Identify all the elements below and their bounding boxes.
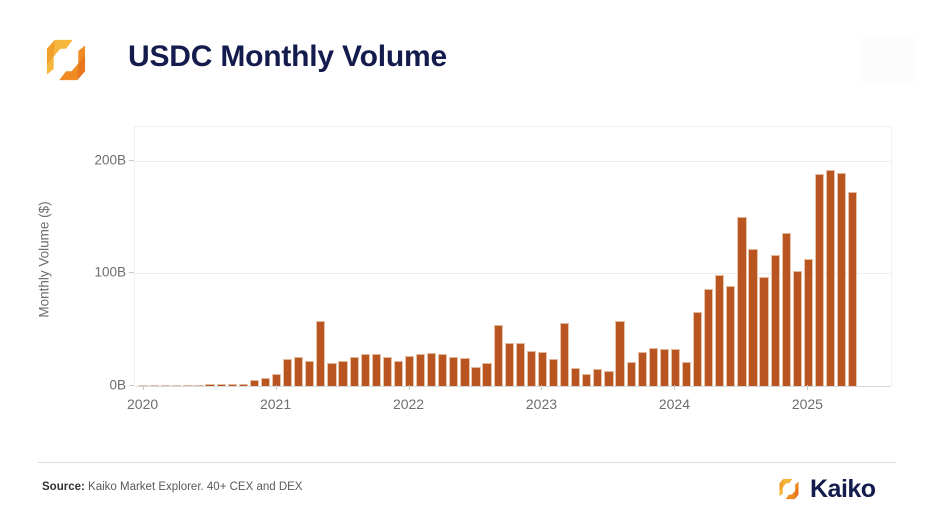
x-axis-ticks: 202020212022202320242025 (134, 385, 890, 425)
bar (826, 170, 835, 386)
source-note: Source: Kaiko Market Explorer. 40+ CEX a… (42, 481, 302, 493)
x-tick-mark (143, 385, 144, 390)
bar (726, 286, 735, 386)
bar (372, 354, 381, 386)
bar (593, 369, 602, 386)
bar (416, 354, 425, 386)
bar (638, 352, 647, 386)
source-text: Kaiko Market Explorer. 40+ CEX and DEX (88, 481, 302, 493)
x-tick-label: 2020 (127, 396, 158, 412)
bar (405, 356, 414, 386)
header: USDC Monthly Volume (0, 0, 934, 104)
bar (460, 358, 469, 386)
bar (627, 362, 636, 386)
watermark-placeholder (860, 38, 916, 82)
bar-series (135, 127, 891, 386)
bar (571, 368, 580, 386)
chart-container: Monthly Volume ($) 0B100B200B 2020202120… (0, 104, 934, 444)
bar (771, 255, 780, 386)
x-tick-mark (276, 385, 277, 390)
y-tick-label: 200B (94, 152, 126, 167)
bar (693, 312, 702, 386)
bar (660, 349, 669, 386)
bar (294, 357, 303, 386)
bar (305, 361, 314, 386)
x-tick-mark (674, 385, 675, 390)
bar (427, 353, 436, 386)
bar (494, 325, 503, 386)
bar (438, 354, 447, 386)
bar (560, 323, 569, 386)
y-tick-label: 100B (94, 265, 126, 280)
bar (471, 367, 480, 386)
bar (394, 361, 403, 386)
kaiko-hexagon-logo-icon (38, 32, 94, 88)
bar (848, 192, 857, 386)
bar (704, 289, 713, 386)
bar (715, 275, 724, 386)
x-tick-mark (409, 385, 410, 390)
bar (748, 249, 757, 386)
bar (671, 349, 680, 386)
kaiko-brand-mark: Kaiko (775, 472, 897, 506)
x-tick-label: 2025 (792, 396, 823, 412)
bar (737, 217, 746, 386)
bar (327, 363, 336, 386)
bar (782, 233, 791, 386)
bar (837, 173, 846, 386)
bar (615, 321, 624, 386)
bar (516, 343, 525, 386)
page-title: USDC Monthly Volume (128, 40, 447, 74)
bar (793, 271, 802, 386)
bar (815, 174, 824, 386)
bar (482, 363, 491, 386)
plot-area (134, 126, 892, 386)
bar (449, 357, 458, 386)
bar (549, 359, 558, 386)
bar (649, 348, 658, 386)
bar (759, 277, 768, 386)
y-tick-label: 0B (109, 378, 126, 393)
bar (604, 371, 613, 386)
kaiko-hexagon-logo-icon-footer (775, 475, 803, 503)
x-tick-mark (541, 385, 542, 390)
x-tick-label: 2021 (260, 396, 291, 412)
x-tick-label: 2022 (393, 396, 424, 412)
x-tick-label: 2024 (659, 396, 690, 412)
bar (682, 362, 691, 386)
chart-page: USDC Monthly Volume Monthly Volume ($) 0… (0, 0, 934, 531)
bar (316, 321, 325, 386)
bar (383, 357, 392, 386)
bar (338, 361, 347, 386)
footer-divider (38, 462, 896, 463)
bar (350, 357, 359, 386)
x-tick-label: 2023 (526, 396, 557, 412)
y-axis-ticks: 0B100B200B (0, 126, 134, 385)
bar (538, 352, 547, 386)
bar (361, 354, 370, 386)
bar (527, 351, 536, 386)
bar (505, 343, 514, 386)
bar (804, 259, 813, 386)
source-label: Source: (42, 481, 85, 493)
bar (283, 359, 292, 386)
x-tick-mark (807, 385, 808, 390)
kaiko-wordmark: Kaiko (810, 475, 876, 503)
